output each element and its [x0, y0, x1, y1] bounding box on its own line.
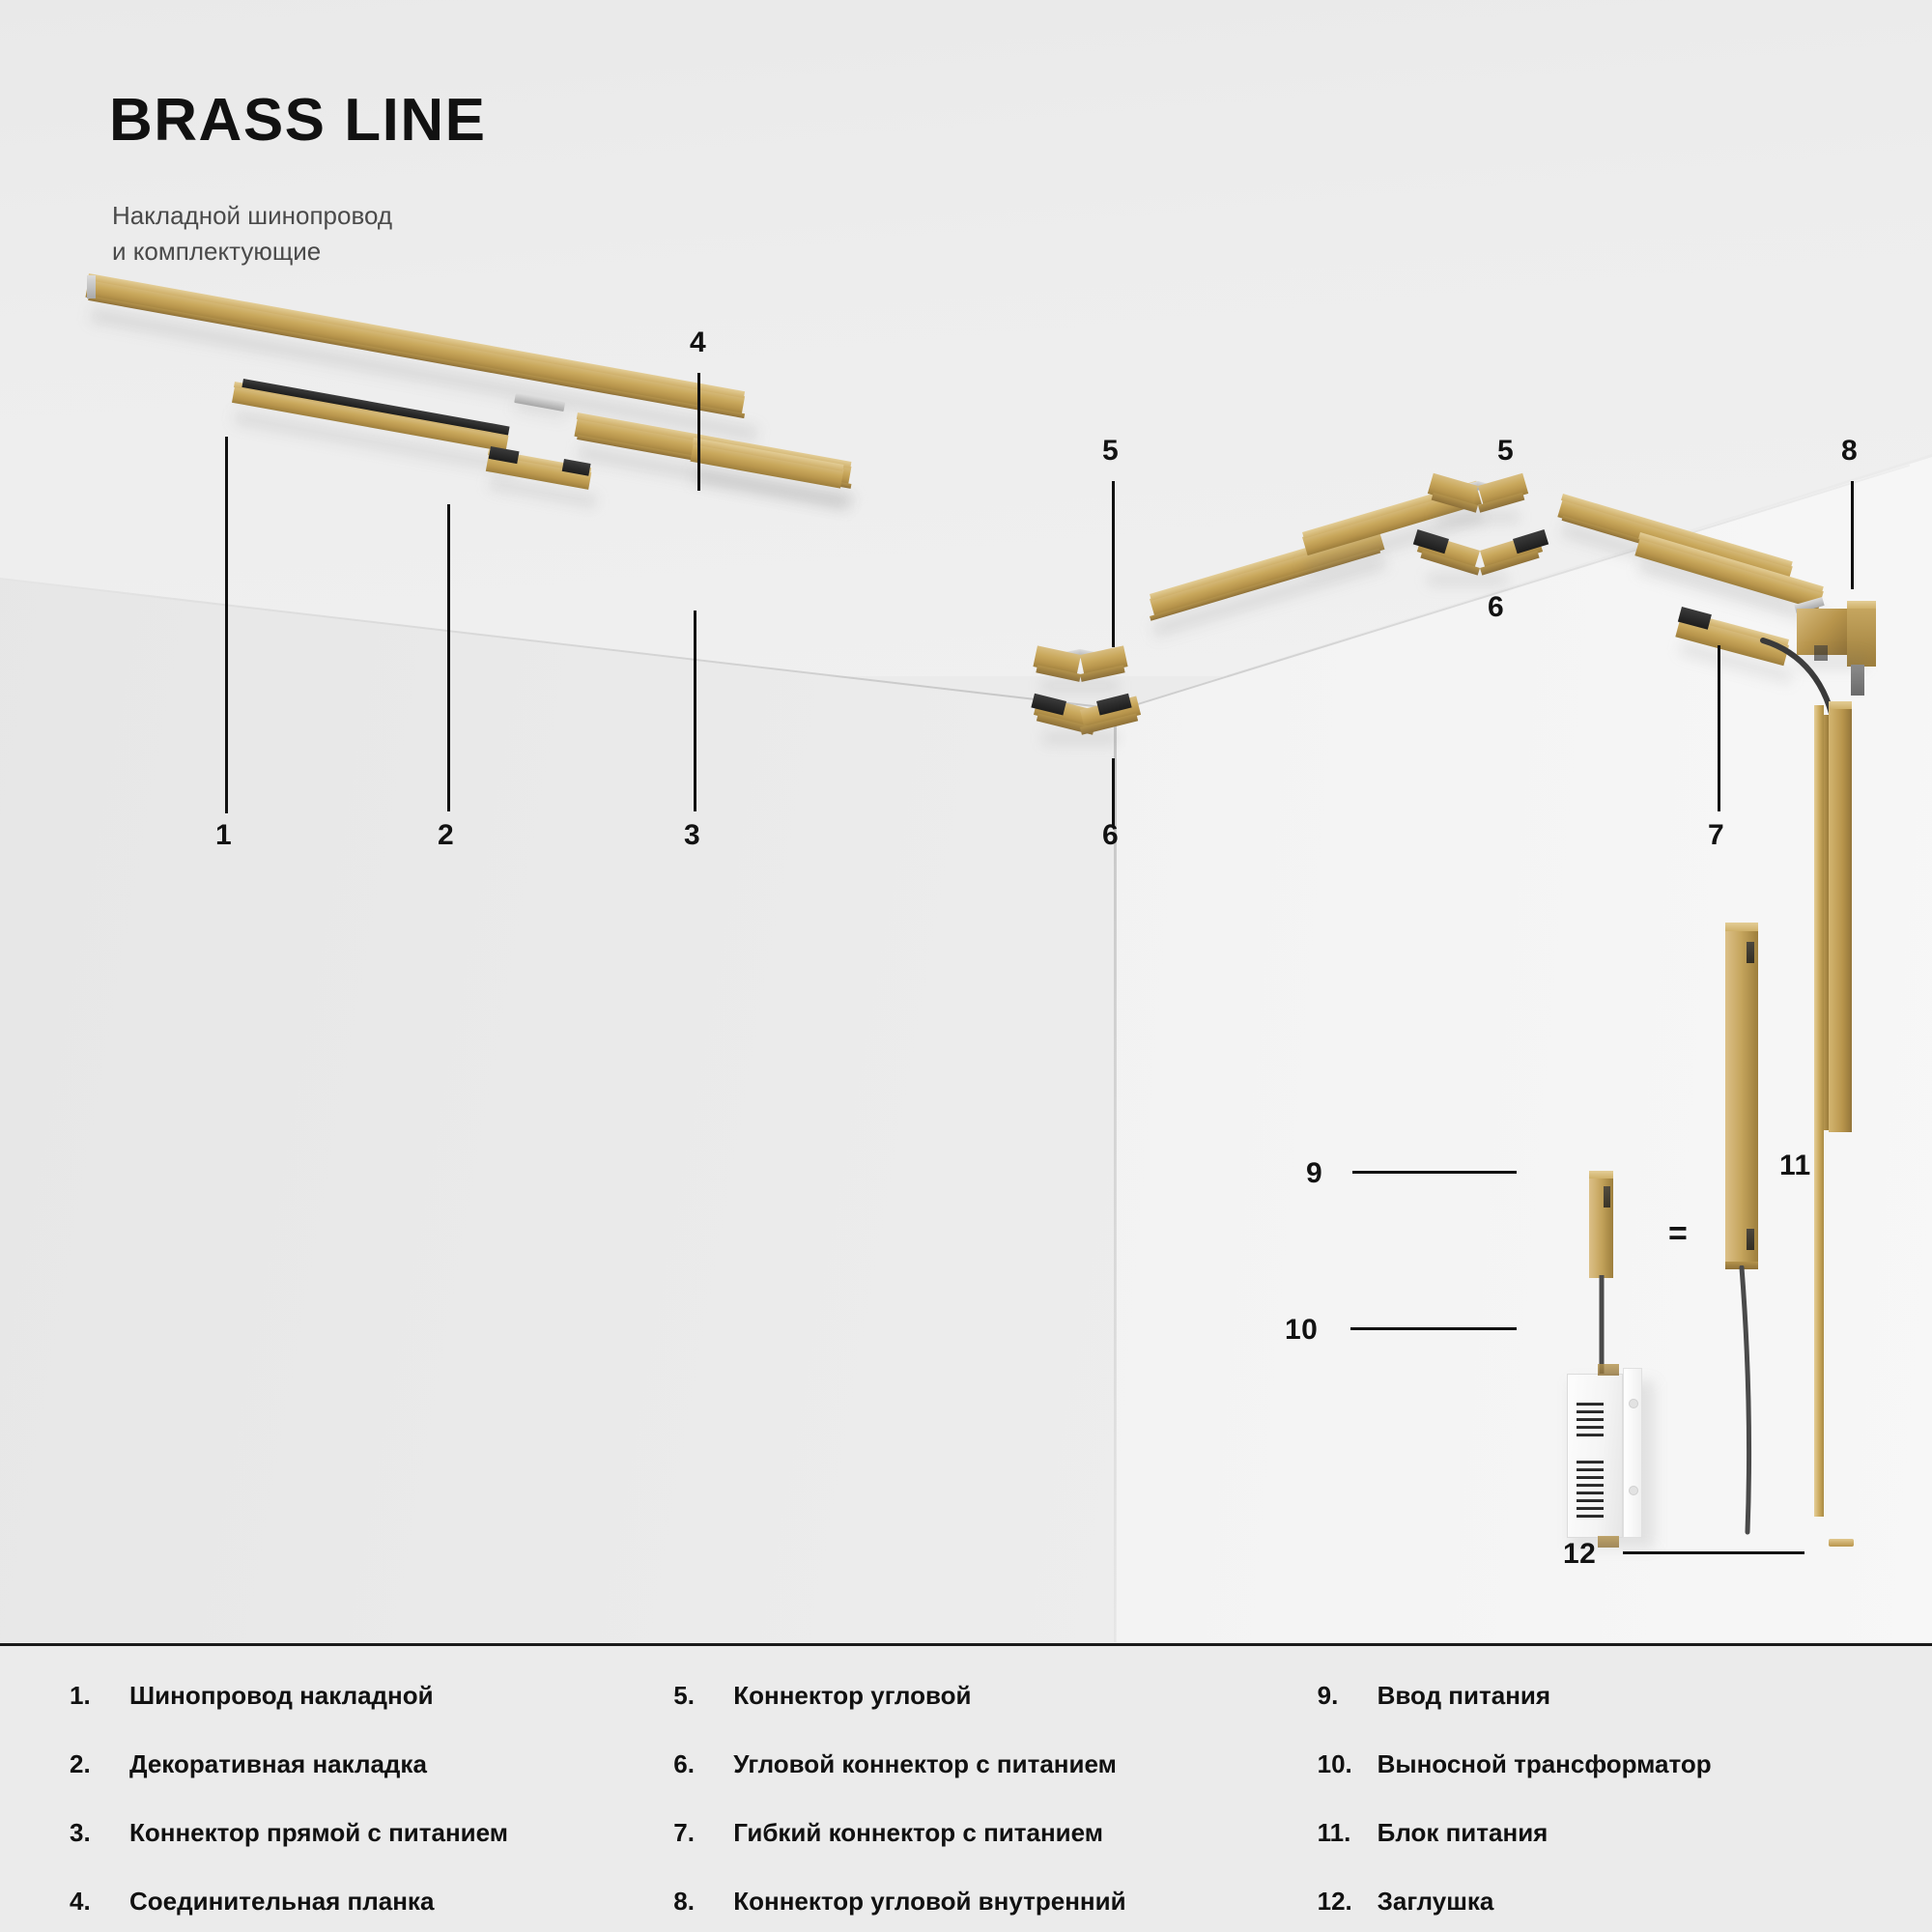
- legend-column-2: 5. Коннектор угловой 6. Угловой коннекто…: [644, 1681, 1288, 1932]
- legend-item-label: Коннектор угловой внутренний: [733, 1887, 1125, 1917]
- callout-number-3: 3: [684, 819, 700, 852]
- legend-item-number: 8.: [673, 1887, 733, 1917]
- legend-item-number: 4.: [70, 1887, 129, 1917]
- transformer-side-panel: [1623, 1368, 1642, 1538]
- power-supply-cable: [1734, 1265, 1773, 1536]
- callout-number-2: 2: [438, 819, 454, 852]
- legend-column-1: 1. Шинопровод накладной 2. Декоративная …: [0, 1681, 644, 1932]
- leader-line-5-left: [1112, 481, 1115, 647]
- callout-number-8: 8: [1841, 435, 1858, 468]
- page-title: BRASS LINE: [109, 91, 486, 151]
- subtitle-line-1: Накладной шинопровод: [112, 198, 392, 234]
- leader-line-6-left: [1112, 758, 1115, 828]
- page-subtitle: Накладной шинопровод и комплектующие: [112, 198, 392, 270]
- legend-item-label: Гибкий коннектор с питанием: [733, 1818, 1103, 1848]
- callout-number-7: 7: [1708, 819, 1724, 852]
- leader-line-10: [1350, 1327, 1517, 1330]
- legend-item-label: Коннектор угловой: [733, 1681, 971, 1711]
- legend-item-number: 3.: [70, 1818, 129, 1848]
- legend-item-label: Коннектор прямой с питанием: [129, 1818, 508, 1848]
- legend-item: 4. Соединительная планка: [70, 1887, 644, 1917]
- callout-number-10: 10: [1285, 1314, 1318, 1347]
- legend-item-label: Ввод питания: [1378, 1681, 1550, 1711]
- legend-item: 3. Коннектор прямой с питанием: [70, 1818, 644, 1848]
- transformer-screw-bottom: [1629, 1486, 1638, 1495]
- legend-item-number: 7.: [673, 1818, 733, 1848]
- legend-item: 11. Блок питания: [1318, 1818, 1932, 1848]
- transformer-screw-top: [1629, 1399, 1638, 1408]
- leader-line-9: [1352, 1171, 1517, 1174]
- callout-number-1: 1: [215, 819, 232, 852]
- subtitle-line-2: и комплектующие: [112, 234, 392, 270]
- legend-item-number: 1.: [70, 1681, 129, 1711]
- leader-line-2: [447, 504, 450, 811]
- equals-sign: =: [1668, 1217, 1688, 1250]
- legend-item-number: 2.: [70, 1749, 129, 1779]
- product-diagram-page: = 1 2 3 4 5 5 6 6 7 8 9 10 11 12 BRASS L…: [0, 0, 1932, 1932]
- legend-item: 5. Коннектор угловой: [673, 1681, 1288, 1711]
- legend-item-number: 6.: [673, 1749, 733, 1779]
- legend-item-label: Соединительная планка: [129, 1887, 434, 1917]
- leader-line-12: [1623, 1551, 1804, 1554]
- legend-item-label: Выносной трансформатор: [1378, 1749, 1712, 1779]
- legend: 1. Шинопровод накладной 2. Декоративная …: [0, 1681, 1932, 1932]
- legend-item: 7. Гибкий коннектор с питанием: [673, 1818, 1288, 1848]
- callout-number-11: 11: [1779, 1150, 1811, 1182]
- callout-number-4: 4: [690, 327, 706, 359]
- legend-item: 9. Ввод питания: [1318, 1681, 1932, 1711]
- legend-divider: [0, 1643, 1932, 1646]
- legend-item-label: Блок питания: [1378, 1818, 1548, 1848]
- legend-item: 12. Заглушка: [1318, 1887, 1932, 1917]
- callout-number-6-left: 6: [1102, 819, 1119, 852]
- leader-line-7: [1718, 645, 1720, 811]
- legend-item: 8. Коннектор угловой внутренний: [673, 1887, 1288, 1917]
- callout-number-6-right: 6: [1488, 591, 1504, 624]
- legend-item-label: Декоративная накладка: [129, 1749, 427, 1779]
- legend-item-number: 10.: [1318, 1749, 1378, 1779]
- callout-number-12: 12: [1563, 1538, 1596, 1571]
- legend-item-number: 5.: [673, 1681, 733, 1711]
- legend-item-number: 9.: [1318, 1681, 1378, 1711]
- legend-item-number: 11.: [1318, 1818, 1378, 1848]
- leader-line-3: [694, 611, 696, 811]
- legend-item-label: Шинопровод накладной: [129, 1681, 434, 1711]
- callout-number-5-right: 5: [1497, 435, 1514, 468]
- leader-line-1: [225, 437, 228, 813]
- transformer-body: [1567, 1374, 1623, 1538]
- legend-item: 2. Декоративная накладка: [70, 1749, 644, 1779]
- legend-item: 6. Угловой коннектор с питанием: [673, 1749, 1288, 1779]
- legend-item-label: Угловой коннектор с питанием: [733, 1749, 1117, 1779]
- callout-number-5-left: 5: [1102, 435, 1119, 468]
- leader-line-4: [697, 373, 700, 491]
- legend-item: 1. Шинопровод накладной: [70, 1681, 644, 1711]
- leader-line-8: [1851, 481, 1854, 589]
- legend-item-label: Заглушка: [1378, 1887, 1494, 1917]
- legend-item: 10. Выносной трансформатор: [1318, 1749, 1932, 1779]
- legend-column-3: 9. Ввод питания 10. Выносной трансформат…: [1289, 1681, 1932, 1932]
- legend-item-number: 12.: [1318, 1887, 1378, 1917]
- callout-number-9: 9: [1306, 1157, 1322, 1190]
